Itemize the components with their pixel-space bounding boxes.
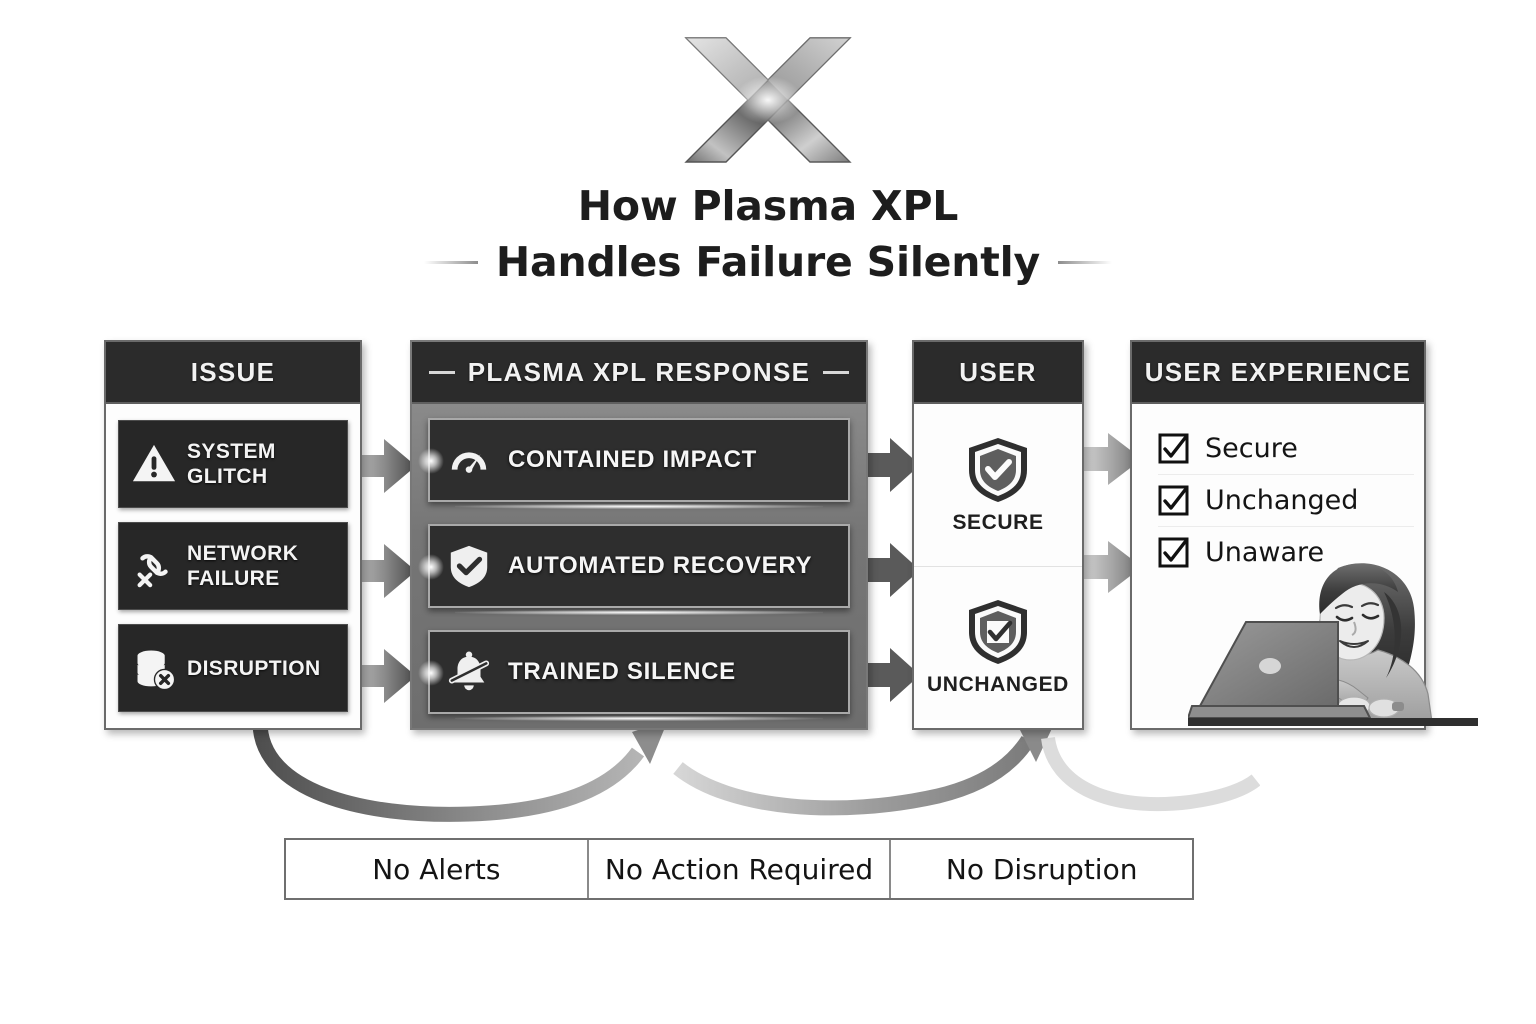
response-card-trained-silence[interactable]: TRAINED SILENCE (428, 630, 850, 714)
shield-check-icon (965, 435, 1031, 505)
panel-response-body: CONTAINED IMPACT AUTOMATED RECOVERY (412, 404, 866, 728)
issue-card-label: DISRUPTION (187, 656, 321, 681)
shield-check-icon (446, 543, 492, 589)
panel-response-heading: PLASMA XPL RESPONSE (412, 342, 866, 404)
user-item-label: UNCHANGED (927, 673, 1069, 697)
panel-response-heading-text: PLASMA XPL RESPONSE (468, 357, 811, 388)
user-item-unchanged[interactable]: UNCHANGED (914, 566, 1082, 729)
panel-issue-body: SYSTEM GLITCH NETWORK FAILURE (106, 404, 360, 728)
x-logo-icon (668, 30, 868, 170)
panel-user-body: SECURE UNCHANGED (914, 404, 1082, 728)
response-card-automated-recovery[interactable]: AUTOMATED RECOVERY (428, 524, 850, 608)
title-rule-left (424, 261, 478, 264)
issue-card-disruption[interactable]: DISRUPTION (118, 624, 348, 712)
glint-spark (418, 554, 444, 580)
database-error-icon (131, 644, 177, 692)
curved-arrow-tail-right (1040, 730, 1260, 830)
ux-item-label: Secure (1205, 433, 1298, 464)
panel-ux-heading: USER EXPERIENCE (1132, 342, 1424, 404)
checkbox-checked-icon (1158, 537, 1189, 568)
ux-item-secure[interactable]: Secure (1158, 422, 1414, 474)
glint-spark (418, 448, 444, 474)
heading-dash-right (823, 371, 849, 374)
woman-at-laptop-illustration (1188, 556, 1478, 738)
checkbox-checked-icon (1158, 485, 1189, 516)
title-line-1: How Plasma XPL (368, 178, 1168, 234)
checkbox-checked-icon (1158, 433, 1189, 464)
bottom-cell-no-alerts[interactable]: No Alerts (286, 840, 587, 898)
title-line-2: Handles Failure Silently (496, 234, 1040, 290)
broken-link-icon (131, 542, 177, 590)
bottom-summary-bar: No Alerts No Action Required No Disrupti… (284, 838, 1194, 900)
curved-arrow-left (240, 718, 690, 836)
bell-slash-icon (446, 649, 492, 695)
response-card-label: TRAINED SILENCE (508, 658, 736, 686)
bottom-cell-no-disruption[interactable]: No Disruption (889, 840, 1192, 898)
panel-issue: ISSUE SYSTEM GLITCH (104, 340, 362, 730)
user-item-secure[interactable]: SECURE (914, 404, 1082, 566)
issue-card-label: SYSTEM GLITCH (187, 439, 276, 489)
response-card-label: AUTOMATED RECOVERY (508, 552, 812, 580)
ux-item-label: Unchanged (1205, 485, 1358, 516)
response-card-contained-impact[interactable]: CONTAINED IMPACT (428, 418, 850, 502)
glint-spark (418, 660, 444, 686)
infographic-canvas: How Plasma XPL Handles Failure Silently (0, 0, 1536, 1024)
gauge-icon (446, 437, 492, 483)
heading-dash-left (429, 371, 455, 374)
issue-card-label: NETWORK FAILURE (187, 541, 298, 591)
user-item-label: SECURE (952, 511, 1043, 535)
panel-issue-heading: ISSUE (106, 342, 360, 404)
response-card-label: CONTAINED IMPACT (508, 446, 757, 474)
page-title: How Plasma XPL Handles Failure Silently (368, 178, 1168, 290)
curved-arrow-right (670, 718, 1070, 836)
title-rule-right (1058, 261, 1112, 264)
issue-card-system-glitch[interactable]: SYSTEM GLITCH (118, 420, 348, 508)
panel-user-heading: USER (914, 342, 1082, 404)
issue-card-network-failure[interactable]: NETWORK FAILURE (118, 522, 348, 610)
panel-user: USER SECURE UNCHANGED (912, 340, 1084, 730)
warning-triangle-icon (131, 440, 177, 488)
ux-item-unchanged[interactable]: Unchanged (1158, 474, 1414, 526)
bottom-cell-no-action-required[interactable]: No Action Required (587, 840, 890, 898)
shield-checkbox-icon (965, 597, 1031, 667)
panel-plasma-xpl-response: PLASMA XPL RESPONSE CONTAINED IMPACT (410, 340, 868, 730)
